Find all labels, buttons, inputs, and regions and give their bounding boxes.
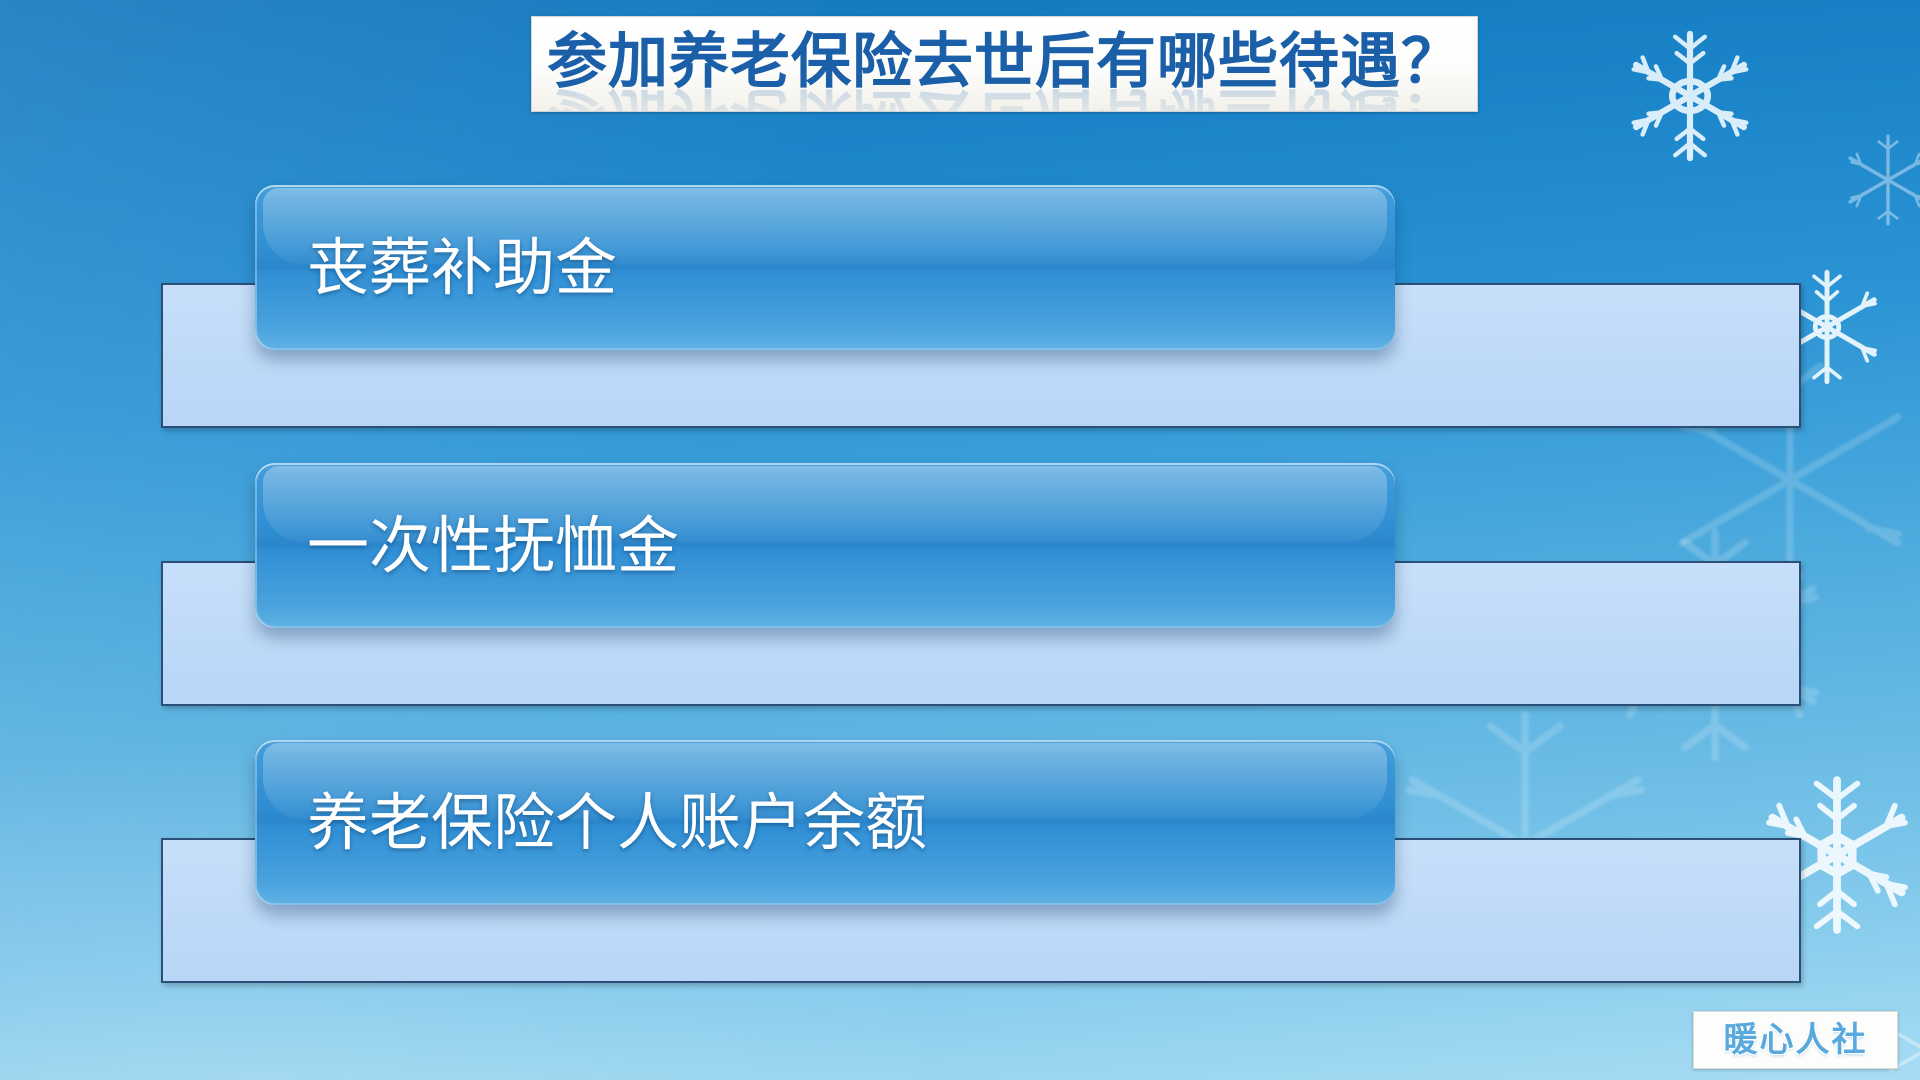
benefit-item-label: 养老保险个人账户余额 <box>307 792 927 854</box>
presentation-slide: 参加养老保险去世后有哪些待遇？ 参加养老保险去世后有哪些待遇？ 丧葬补助金 一次… <box>0 0 1920 1080</box>
benefit-item-label: 一次性抚恤金 <box>307 515 679 577</box>
logo-text: 暖心人社 <box>1724 1023 1868 1057</box>
benefit-item-2[interactable]: 一次性抚恤金 <box>255 463 1395 628</box>
snowflake-icon <box>1616 22 1764 170</box>
benefit-item-1[interactable]: 丧葬补助金 <box>255 185 1395 350</box>
benefit-item-label: 丧葬补助金 <box>307 237 617 299</box>
page-title: 参加养老保险去世后有哪些待遇？ <box>547 32 1462 92</box>
slide-title-plate: 参加养老保险去世后有哪些待遇？ 参加养老保险去世后有哪些待遇？ <box>531 16 1478 112</box>
watermark-logo: 暖心人社 <box>1693 1011 1898 1069</box>
snowflake-icon <box>1836 128 1920 232</box>
benefit-item-3[interactable]: 养老保险个人账户余额 <box>255 740 1395 905</box>
